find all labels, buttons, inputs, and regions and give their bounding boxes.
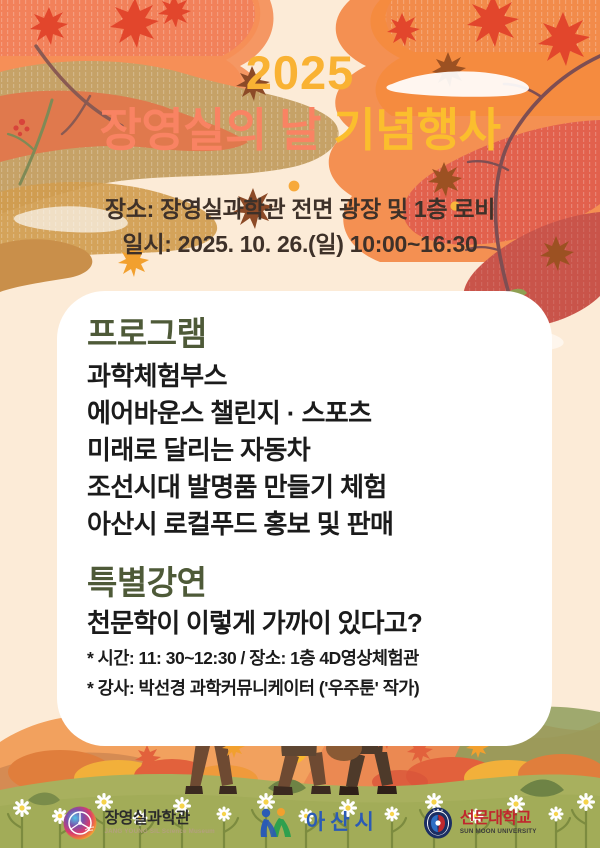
footer-logo-row: 장영실과학관 JANG YOUNG SIL Science Museum 아산시: [0, 806, 600, 840]
content-card: 프로그램 과학체험부스 에어바운스 챌린지 · 스포츠 미래로 달리는 자동차 …: [57, 291, 552, 746]
page-title: 장영실의 날 기념행사: [0, 103, 600, 157]
logo-label-kr: 아산시: [306, 812, 379, 835]
logo-label-en: JANG YOUNG SIL Science Museum: [104, 828, 214, 836]
title-part-coral: 장영실의 날: [100, 104, 334, 156]
lecture-title: 천문학이 이렇게 가까이 있다고?: [87, 605, 530, 641]
logo-label-en: SUN MOON UNIVERSITY: [460, 828, 537, 836]
logo-label-kr: 선문대학교: [460, 810, 537, 827]
asan-city-emblem-icon: [259, 807, 299, 839]
poster-year: 2025: [0, 48, 600, 97]
list-item: 과학체험부스: [87, 358, 530, 395]
event-date: 일시: 2025. 10. 26.(일) 10:00~16:30: [0, 227, 600, 262]
list-item: 조선시대 발명품 만들기 체험: [87, 469, 530, 506]
event-poster: 2025 장영실의 날 기념행사 장소: 장영실과학관 전면 광장 및 1층 로…: [0, 0, 600, 848]
sunmoon-university-crest-icon: [423, 807, 453, 839]
logo-label-kr: 장영실과학관: [104, 810, 214, 827]
list-item: 아산시 로컬푸드 홍보 및 판매: [87, 506, 530, 543]
list-item: 에어바운스 챌린지 · 스포츠: [87, 395, 530, 432]
event-place: 장소: 장영실과학관 전면 광장 및 1층 로비: [0, 192, 600, 227]
logo-asan-city: 아산시: [259, 807, 379, 839]
event-meta: 장소: 장영실과학관 전면 광장 및 1층 로비 일시: 2025. 10. 2…: [0, 192, 600, 262]
list-item: 미래로 달리는 자동차: [87, 432, 530, 469]
logo-jangyoungsil-science-museum: 장영실과학관 JANG YOUNG SIL Science Museum: [63, 806, 214, 840]
lecture-note-time: * 시간: 11: 30~12:30 / 장소: 1층 4D영상체험관: [87, 645, 530, 672]
program-heading: 프로그램: [87, 315, 530, 354]
lecture-heading: 특별강연: [87, 564, 530, 603]
program-list: 과학체험부스 에어바운스 챌린지 · 스포츠 미래로 달리는 자동차 조선시대 …: [87, 358, 530, 543]
lecture-note-speaker: * 강사: 박선경 과학커뮤니케이터 ('우주툰' 작가): [87, 675, 530, 702]
logo-sunmoon-university: 선문대학교 SUN MOON UNIVERSITY: [423, 807, 537, 839]
jangyoungsil-emblem-icon: [63, 806, 97, 840]
poster-title-block: 2025 장영실의 날 기념행사: [0, 48, 600, 158]
title-part-gold: 기념행사: [333, 104, 500, 156]
